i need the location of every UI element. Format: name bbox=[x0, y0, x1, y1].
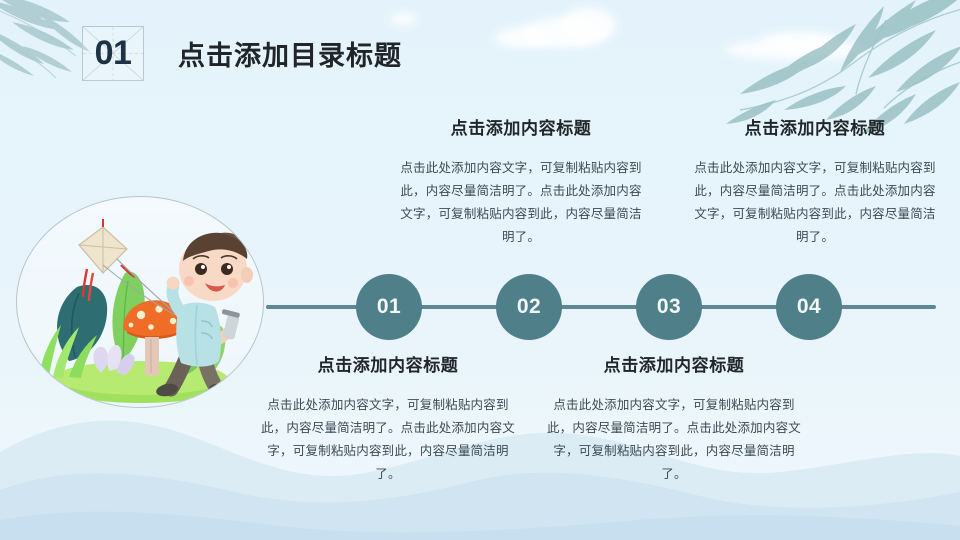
illustration-circle bbox=[16, 196, 264, 408]
timeline-node-label: 03 bbox=[657, 295, 681, 319]
timeline-node-01[interactable]: 01 bbox=[356, 274, 422, 340]
content-block-4: 点击添加内容标题 点击此处添加内容文字，可复制粘贴内容到此，内容尽量简洁明了。点… bbox=[546, 351, 802, 487]
content-heading: 点击添加内容标题 bbox=[546, 351, 802, 376]
content-heading: 点击添加内容标题 bbox=[396, 114, 646, 139]
content-block-1: 点击添加内容标题 点击此处添加内容文字，可复制粘贴内容到此，内容尽量简洁明了。点… bbox=[396, 114, 646, 250]
content-body: 点击此处添加内容文字，可复制粘贴内容到此，内容尽量简洁明了。点击此处添加内容文字… bbox=[260, 394, 516, 487]
section-number: 01 bbox=[95, 34, 132, 73]
content-heading: 点击添加内容标题 bbox=[260, 351, 516, 376]
cloud-shape bbox=[520, 18, 608, 48]
timeline-node-03[interactable]: 03 bbox=[636, 274, 702, 340]
timeline-node-04[interactable]: 04 bbox=[776, 274, 842, 340]
slide-canvas: 01 点击添加目录标题 bbox=[0, 0, 960, 540]
content-block-2: 点击添加内容标题 点击此处添加内容文字，可复制粘贴内容到此，内容尽量简洁明了。点… bbox=[690, 114, 940, 250]
timeline-node-label: 01 bbox=[377, 295, 401, 319]
timeline-node-02[interactable]: 02 bbox=[496, 274, 562, 340]
content-heading: 点击添加内容标题 bbox=[690, 114, 940, 139]
cloud-shape bbox=[560, 8, 616, 42]
cloud-shape bbox=[760, 32, 840, 50]
timeline-node-label: 04 bbox=[797, 295, 821, 319]
slide-header: 01 点击添加目录标题 bbox=[82, 26, 402, 81]
content-body: 点击此处添加内容文字，可复制粘贴内容到此，内容尽量简洁明了。点击此处添加内容文字… bbox=[546, 394, 802, 487]
content-body: 点击此处添加内容文字，可复制粘贴内容到此，内容尽量简洁明了。点击此处添加内容文字… bbox=[690, 157, 940, 250]
timeline-node-label: 02 bbox=[517, 295, 541, 319]
cloud-shape bbox=[495, 28, 549, 48]
cloud-shape bbox=[725, 40, 865, 60]
page-title: 点击添加目录标题 bbox=[178, 34, 402, 73]
content-body: 点击此处添加内容文字，可复制粘贴内容到此，内容尽量简洁明了。点击此处添加内容文字… bbox=[396, 157, 646, 250]
cloud-shape bbox=[390, 13, 416, 25]
section-number-box: 01 bbox=[82, 26, 144, 81]
content-block-3: 点击添加内容标题 点击此处添加内容文字，可复制粘贴内容到此，内容尽量简洁明了。点… bbox=[260, 351, 516, 487]
boy-flying-kite-illustration bbox=[17, 197, 264, 408]
